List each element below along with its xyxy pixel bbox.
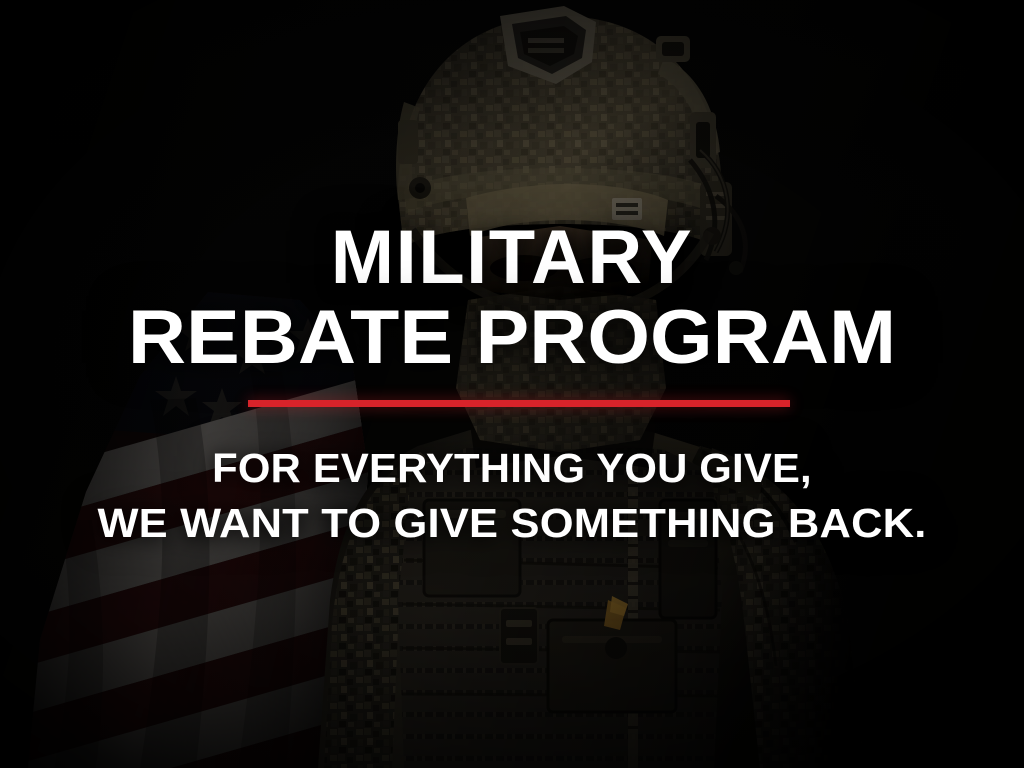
poster-canvas: MILITARY REBATE PROGRAM FOR EVERYTHING Y… <box>0 0 1024 768</box>
headline-line-2: REBATE PROGRAM <box>0 300 1024 376</box>
headline-line-1: MILITARY <box>0 220 1024 296</box>
subheadline-line-2: WE WANT TO GIVE SOMETHING BACK. <box>0 503 1024 544</box>
red-accent-divider <box>248 400 790 407</box>
subheadline-line-1: FOR EVERYTHING YOU GIVE, <box>0 448 1024 489</box>
poster-copy: MILITARY REBATE PROGRAM FOR EVERYTHING Y… <box>0 0 1024 768</box>
